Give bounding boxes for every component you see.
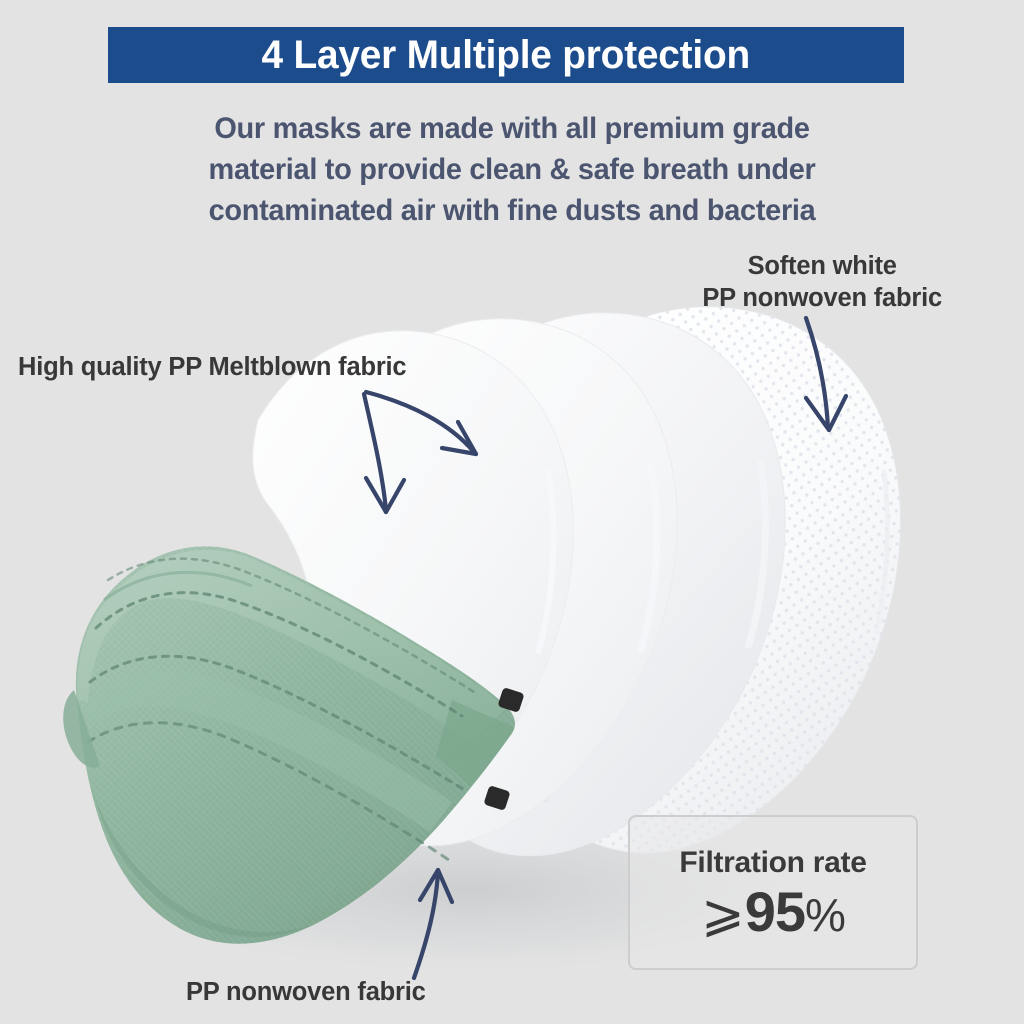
filtration-rate-box: Filtration rate ⩾95% [628,815,918,970]
white-layer-inner [234,331,574,844]
title-banner: 4 Layer Multiple protection [108,27,904,83]
white-layer-middle-1 [320,319,677,846]
label-pp-nonwoven-fabric: PP nonwoven fabric [186,976,426,1008]
ear-loop-tab-upper [497,687,524,713]
white-layer-outer [530,307,901,853]
arrow-to-green-mask [414,870,452,978]
ear-loop-tab-lower [483,785,510,811]
greater-equal-icon: ⩾ [701,887,744,942]
page-title: 4 Layer Multiple protection [262,35,750,75]
label-soften-white-line-1: Soften white [702,250,942,282]
filtration-rate-number: 95 [745,883,805,942]
label-meltblown-fabric: High quality PP Meltblown fabric [18,351,406,383]
subtitle-line-3: contaminated air with fine dusts and bac… [104,190,919,231]
percent-symbol: % [805,891,845,939]
label-soften-white-line-2: PP nonwoven fabric [702,282,942,314]
filtration-rate-value: ⩾95% [701,883,845,942]
infographic-root: 4 Layer Multiple protection Our masks ar… [0,0,1024,1024]
green-mask [60,520,540,970]
subtitle-block: Our masks are made with all premium grad… [96,108,928,231]
label-soften-white: Soften white PP nonwoven fabric [702,250,942,314]
subtitle-line-2: material to provide clean & safe breath … [104,149,919,190]
subtitle-line-1: Our masks are made with all premium grad… [104,108,919,149]
stitch-lines [88,559,474,862]
filtration-rate-title: Filtration rate [679,846,866,879]
white-layer-middle-2 [416,313,785,856]
arrow-to-meltblown-layers [364,392,476,512]
arrow-to-outer-white-layer [806,318,846,430]
